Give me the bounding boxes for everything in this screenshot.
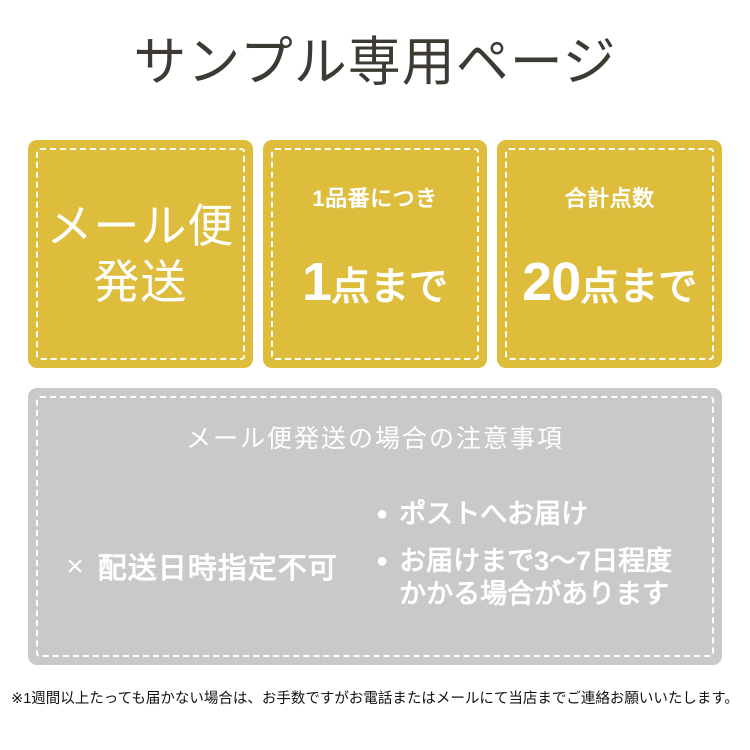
feature-cards-row: メール便 発送 1品番につき 1点まで 合計点数 20点まで (28, 140, 722, 368)
card-shipping-method-content: メール便 発送 (28, 198, 253, 310)
cross-icon: × (66, 552, 84, 582)
footnote-text: ※1週間以上たっても届かない場合は、お手数ですがお電話またはメールにて当店までご… (0, 688, 750, 710)
notice-bullet-text-line1: お届けまで3〜7日程度 (399, 546, 672, 576)
notice-panel: メール便発送の場合の注意事項 × 配送日時指定不可 ● ポストへお届け ● お届… (28, 388, 722, 665)
notice-bullet-text-line1: ポストへお届け (399, 499, 588, 529)
notice-bullet-list: ● ポストへお届け ● お届けまで3〜7日程度 かかる場合があります (376, 496, 722, 611)
page-title: サンプル専用ページ (0, 32, 750, 94)
card-per-item-limit-unit: 点まで (331, 266, 448, 309)
card-per-item-limit: 1品番につき 1点まで (263, 140, 488, 368)
bullet-dot-icon: ● (376, 498, 388, 531)
card-total-limit-number: 20 (522, 252, 580, 312)
sample-page-graphic: サンプル専用ページ メール便 発送 1品番につき 1点まで 合計点数 (0, 0, 750, 750)
notice-restriction-item: × 配送日時指定不可 (28, 496, 376, 636)
bullet-dot-icon: ● (376, 545, 388, 578)
card-shipping-method-headline-line1: メール便 (28, 198, 253, 254)
card-total-limit: 合計点数 20点まで (497, 140, 722, 368)
card-per-item-limit-value: 1点まで (263, 256, 488, 322)
notice-panel-body: × 配送日時指定不可 ● ポストへお届け ● お届けまで3〜7日程度 かかる場合… (28, 496, 722, 636)
notice-panel-heading: メール便発送の場合の注意事項 (28, 424, 722, 454)
list-item: ● お届けまで3〜7日程度 かかる場合があります (376, 545, 722, 611)
card-total-limit-value: 20点まで (497, 256, 722, 322)
list-item: ● ポストへお届け (376, 498, 722, 531)
notice-bullet-text-line2: かかる場合があります (399, 578, 672, 611)
card-per-item-limit-caption: 1品番につき (263, 186, 488, 212)
card-per-item-limit-content: 1品番につき 1点まで (263, 186, 488, 322)
card-shipping-method: メール便 発送 (28, 140, 253, 368)
notice-bullet-text: ポストへお届け (399, 498, 588, 531)
card-total-limit-content: 合計点数 20点まで (497, 186, 722, 322)
card-total-limit-caption: 合計点数 (497, 186, 722, 212)
card-total-limit-unit: 点まで (580, 266, 697, 309)
card-per-item-limit-number: 1 (302, 252, 331, 312)
notice-bullet-text: お届けまで3〜7日程度 かかる場合があります (399, 545, 672, 611)
card-shipping-method-headline-line2: 発送 (28, 254, 253, 310)
notice-restriction-label: 配送日時指定不可 (98, 545, 338, 587)
